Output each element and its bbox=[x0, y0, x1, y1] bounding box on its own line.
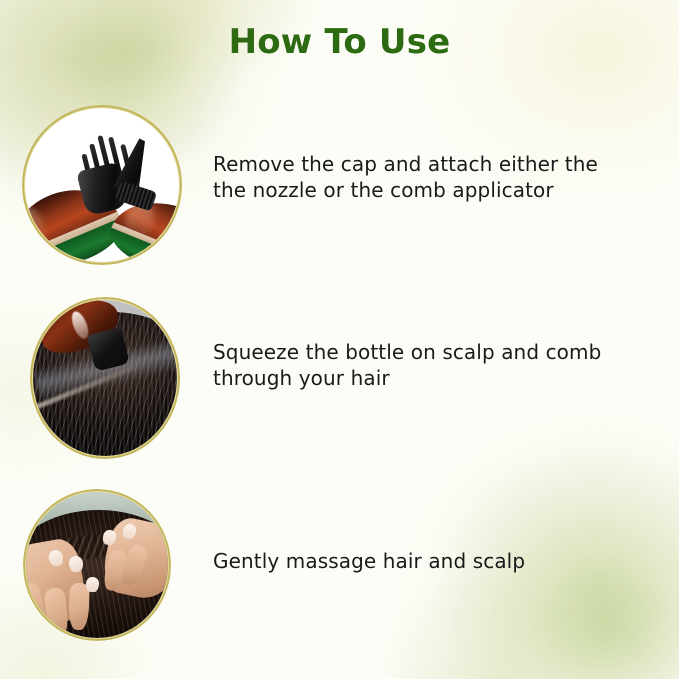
watercolor-wash-bottom-right-2 bbox=[479, 509, 679, 679]
how-to-use-infographic: How To Use bbox=[0, 0, 679, 679]
step-2-line-1: Squeeze the bottle on scalp and comb bbox=[213, 339, 643, 365]
watercolor-wash-bottom-right bbox=[359, 399, 679, 679]
step-1-line-1: Remove the cap and attach either the bbox=[213, 151, 643, 177]
applicator-bottles-photo bbox=[22, 105, 182, 265]
squeeze-bottle-on-scalp-photo bbox=[30, 297, 180, 459]
step-2-line-2: through your hair bbox=[213, 365, 643, 391]
step-1-line-2: the nozzle or the comb applicator bbox=[213, 177, 643, 203]
page-title: How To Use bbox=[0, 22, 679, 62]
step-3-text: Gently massage hair and scalp bbox=[213, 548, 643, 574]
step-2-text: Squeeze the bottle on scalp and comb thr… bbox=[213, 339, 643, 391]
massage-scalp-photo bbox=[23, 489, 171, 641]
step-1-text: Remove the cap and attach either the the… bbox=[213, 151, 643, 203]
step-3-line-1: Gently massage hair and scalp bbox=[213, 548, 643, 574]
